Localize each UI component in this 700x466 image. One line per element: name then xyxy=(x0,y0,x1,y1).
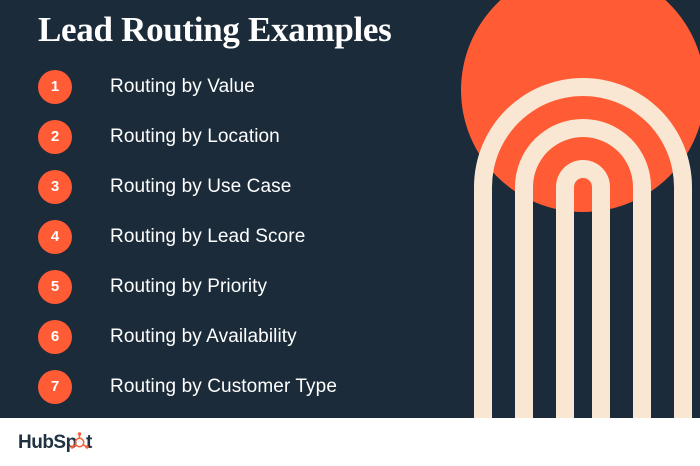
item-number-badge: 7 xyxy=(38,370,72,404)
list-item[interactable]: 6 Routing by Availability xyxy=(38,312,468,362)
item-number-badge: 4 xyxy=(38,220,72,254)
item-label: Routing by Customer Type xyxy=(110,376,337,398)
item-number-badge: 5 xyxy=(38,270,72,304)
infographic-root: Lead Routing Examples 1 Routing by Value… xyxy=(0,0,700,466)
arc-stripe-1 xyxy=(474,78,692,418)
item-label: Routing by Availability xyxy=(110,326,297,348)
item-number-badge: 1 xyxy=(38,70,72,104)
list-item[interactable]: 2 Routing by Location xyxy=(38,112,468,162)
arc-stripe-3 xyxy=(556,160,610,418)
item-label: Routing by Location xyxy=(110,126,280,148)
item-label: Routing by Priority xyxy=(110,276,267,298)
dark-canvas: Lead Routing Examples 1 Routing by Value… xyxy=(0,0,700,418)
item-label: Routing by Use Case xyxy=(110,176,291,198)
footer-bar: HubSp t xyxy=(0,418,700,466)
routing-examples-list: 1 Routing by Value 2 Routing by Location… xyxy=(38,62,468,412)
list-item[interactable]: 1 Routing by Value xyxy=(38,62,468,112)
list-item[interactable]: 7 Routing by Customer Type xyxy=(38,362,468,412)
arc-stripe-2 xyxy=(515,119,651,418)
orange-circle-shape xyxy=(461,0,700,212)
decorative-artwork xyxy=(440,0,700,418)
list-item[interactable]: 3 Routing by Use Case xyxy=(38,162,468,212)
item-number-badge: 2 xyxy=(38,120,72,154)
item-label: Routing by Value xyxy=(110,76,255,98)
list-item[interactable]: 5 Routing by Priority xyxy=(38,262,468,312)
item-label: Routing by Lead Score xyxy=(110,226,305,248)
item-number-badge: 3 xyxy=(38,170,72,204)
item-number-badge: 6 xyxy=(38,320,72,354)
page-title: Lead Routing Examples xyxy=(38,8,391,52)
svg-text:HubSp: HubSp xyxy=(18,432,77,453)
svg-text:t: t xyxy=(86,432,93,453)
hubspot-logo-icon: HubSp t xyxy=(18,430,122,454)
list-item[interactable]: 4 Routing by Lead Score xyxy=(38,212,468,262)
hubspot-logo: HubSp t xyxy=(18,430,122,454)
